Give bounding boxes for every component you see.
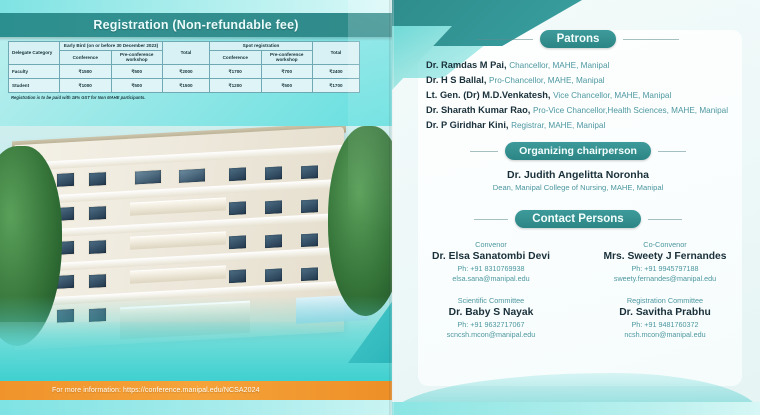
patron-name: Dr. Ramdas M Pai, xyxy=(426,60,507,70)
chairperson-section: Organizing chairperson Dr. Judith Angeli… xyxy=(404,142,752,192)
contacts-grid: Convenor Dr. Elsa Sanatombi Devi Ph: +91… xyxy=(404,240,752,339)
heading-rule-right xyxy=(623,39,679,40)
photo-gradient-fade xyxy=(0,296,392,392)
contact-role: Registration Committee xyxy=(578,296,752,305)
patron-role: Registrar, MAHE, Manipal xyxy=(511,121,605,130)
window xyxy=(88,239,107,255)
contact-phone[interactable]: Ph: +91 9481760372 xyxy=(578,320,752,329)
table-row: Student ₹1000 ₹500 ₹1500 ₹1200 ₹500 ₹170… xyxy=(9,79,360,93)
header-early-workshop: Pre-conference workshop xyxy=(111,50,163,64)
window xyxy=(300,266,319,282)
cell-spot-workshop: ₹500 xyxy=(261,79,313,93)
contact-role: Convenor xyxy=(404,240,578,249)
balcony xyxy=(130,231,226,249)
college-building-photo xyxy=(0,126,392,392)
conference-poster: Registration (Non-refundable fee) Delega… xyxy=(0,0,760,415)
cell-early-conference: ₹1000 xyxy=(60,79,112,93)
table-row: Faculty ₹1500 ₹500 ₹2000 ₹1700 ₹700 ₹240… xyxy=(9,65,360,79)
left-panel: Registration (Non-refundable fee) Delega… xyxy=(0,0,392,415)
header-spot-registration: Spot registration xyxy=(210,42,313,51)
chairperson-heading: Organizing chairperson xyxy=(505,142,651,160)
patron-name: Dr. P Giridhar Kini, xyxy=(426,120,509,130)
registration-gst-note: Registration is to be paid with 18% GST … xyxy=(8,95,360,100)
window xyxy=(134,169,162,186)
bottom-decorative-strip xyxy=(0,400,392,415)
panel-seam xyxy=(389,0,394,415)
contact-email[interactable]: ncsh.mcon@manipal.edu xyxy=(578,330,752,339)
chairperson-heading-row: Organizing chairperson xyxy=(404,142,752,160)
header-early-bird: Early Bird (on or before 30 December 202… xyxy=(60,42,163,51)
header-early-conference: Conference xyxy=(60,50,112,64)
cell-early-workshop: ₹500 xyxy=(111,65,163,79)
window xyxy=(300,232,319,248)
window xyxy=(264,233,283,249)
window xyxy=(264,267,283,283)
patron-name: Lt. Gen. (Dr) M.D.Venkatesh, xyxy=(426,90,551,100)
window xyxy=(264,199,283,215)
registration-banner: Registration (Non-refundable fee) xyxy=(0,13,392,37)
more-information-link[interactable]: For more information: https://conference… xyxy=(0,387,260,394)
patron-name: Dr. Sharath Kumar Rao, xyxy=(426,105,530,115)
header-spot-workshop: Pre-conference workshop xyxy=(261,50,313,64)
list-item: Lt. Gen. (Dr) M.D.Venkatesh, Vice Chance… xyxy=(426,88,752,103)
heading-rule-left xyxy=(477,39,533,40)
contact-role: Scientific Committee xyxy=(404,296,578,305)
header-delegate-category: Delegate Category xyxy=(9,42,60,65)
cell-spot-conference: ₹1200 xyxy=(210,79,262,93)
patrons-heading: Patrons xyxy=(540,30,617,48)
window xyxy=(264,165,283,181)
window xyxy=(300,198,319,214)
top-decorative-strip xyxy=(0,0,392,13)
window xyxy=(88,171,107,187)
heading-rule-right xyxy=(658,151,686,152)
registration-banner-title: Registration (Non-refundable fee) xyxy=(93,18,298,32)
header-early-total: Total xyxy=(163,42,210,65)
registration-table-wrapper: Delegate Category Early Bird (on or befo… xyxy=(8,41,360,100)
contact-card: Registration Committee Dr. Savitha Prabh… xyxy=(578,296,752,339)
balcony xyxy=(130,265,226,283)
window xyxy=(88,273,107,289)
window xyxy=(228,234,247,250)
patron-name: Dr. H S Ballal, xyxy=(426,75,486,85)
cell-spot-conference: ₹1700 xyxy=(210,65,262,79)
contact-card: Co-Convenor Mrs. Sweety J Fernandes Ph: … xyxy=(578,240,752,283)
contacts-heading-row: Contact Persons xyxy=(404,210,752,228)
contact-name: Dr. Baby S Nayak xyxy=(404,307,578,318)
window xyxy=(300,164,319,180)
heading-rule-left xyxy=(470,151,498,152)
heading-rule-right xyxy=(648,219,682,220)
window xyxy=(178,167,206,184)
patrons-list: Dr. Ramdas M Pai, Chancellor, MAHE, Mani… xyxy=(404,58,752,133)
contact-email[interactable]: elsa.sana@manipal.edu xyxy=(404,274,578,283)
balcony xyxy=(130,197,226,215)
contact-name: Mrs. Sweety J Fernandes xyxy=(578,251,752,262)
contact-name: Dr. Elsa Sanatombi Devi xyxy=(404,251,578,262)
contact-phone[interactable]: Ph: +91 9632717067 xyxy=(404,320,578,329)
patron-role: Vice Chancellor, MAHE, Manipal xyxy=(553,91,671,100)
patron-role: Pro-Chancellor, MAHE, Manipal xyxy=(489,76,605,85)
patrons-section: Patrons Dr. Ramdas M Pai, Chancellor, MA… xyxy=(404,30,752,133)
contact-card: Scientific Committee Dr. Baby S Nayak Ph… xyxy=(404,296,578,339)
list-item: Dr. Sharath Kumar Rao, Pro-Vice Chancell… xyxy=(426,103,752,118)
cell-early-workshop: ₹500 xyxy=(111,79,163,93)
list-item: Dr. H S Ballal, Pro-Chancellor, MAHE, Ma… xyxy=(426,73,752,88)
registration-fee-table: Delegate Category Early Bird (on or befo… xyxy=(8,41,360,93)
cell-category: Faculty xyxy=(9,65,60,79)
contact-phone[interactable]: Ph: +91 8310769938 xyxy=(404,264,578,273)
list-item: Dr. P Giridhar Kini, Registrar, MAHE, Ma… xyxy=(426,118,752,133)
patrons-heading-row: Patrons xyxy=(404,30,752,48)
cell-category: Student xyxy=(9,79,60,93)
contacts-heading: Contact Persons xyxy=(515,210,640,228)
cell-spot-workshop: ₹700 xyxy=(261,65,313,79)
window xyxy=(228,166,247,182)
patron-role: Chancellor, MAHE, Manipal xyxy=(509,61,609,70)
heading-rule-left xyxy=(474,219,508,220)
footer-info-bar: For more information: https://conference… xyxy=(0,381,392,400)
contact-role: Co-Convenor xyxy=(578,240,752,249)
contact-email[interactable]: scncsh.mcon@manipal.edu xyxy=(404,330,578,339)
contacts-section: Contact Persons Convenor Dr. Elsa Sanato… xyxy=(404,210,752,339)
contact-name: Dr. Savitha Prabhu xyxy=(578,307,752,318)
cell-early-conference: ₹1500 xyxy=(60,65,112,79)
bottom-strip xyxy=(392,402,760,415)
cell-early-total: ₹2000 xyxy=(163,65,210,79)
table-header-row-group: Delegate Category Early Bird (on or befo… xyxy=(9,42,360,51)
contact-phone[interactable]: Ph: +91 9945797188 xyxy=(578,264,752,273)
window xyxy=(228,268,247,284)
window xyxy=(228,200,247,216)
window xyxy=(88,205,107,221)
chairperson-name: Dr. Judith Angelitta Noronha xyxy=(404,169,752,181)
contact-email[interactable]: sweety.fernandes@manipal.edu xyxy=(578,274,752,283)
window xyxy=(56,172,75,188)
list-item: Dr. Ramdas M Pai, Chancellor, MAHE, Mani… xyxy=(426,58,752,73)
header-spot-conference: Conference xyxy=(210,50,262,64)
contact-card: Convenor Dr. Elsa Sanatombi Devi Ph: +91… xyxy=(404,240,578,283)
chairperson-designation: Dean, Manipal College of Nursing, MAHE, … xyxy=(404,183,752,192)
cell-early-total: ₹1500 xyxy=(163,79,210,93)
patron-role: Pro-Vice Chancellor,Health Sciences, MAH… xyxy=(533,106,728,115)
